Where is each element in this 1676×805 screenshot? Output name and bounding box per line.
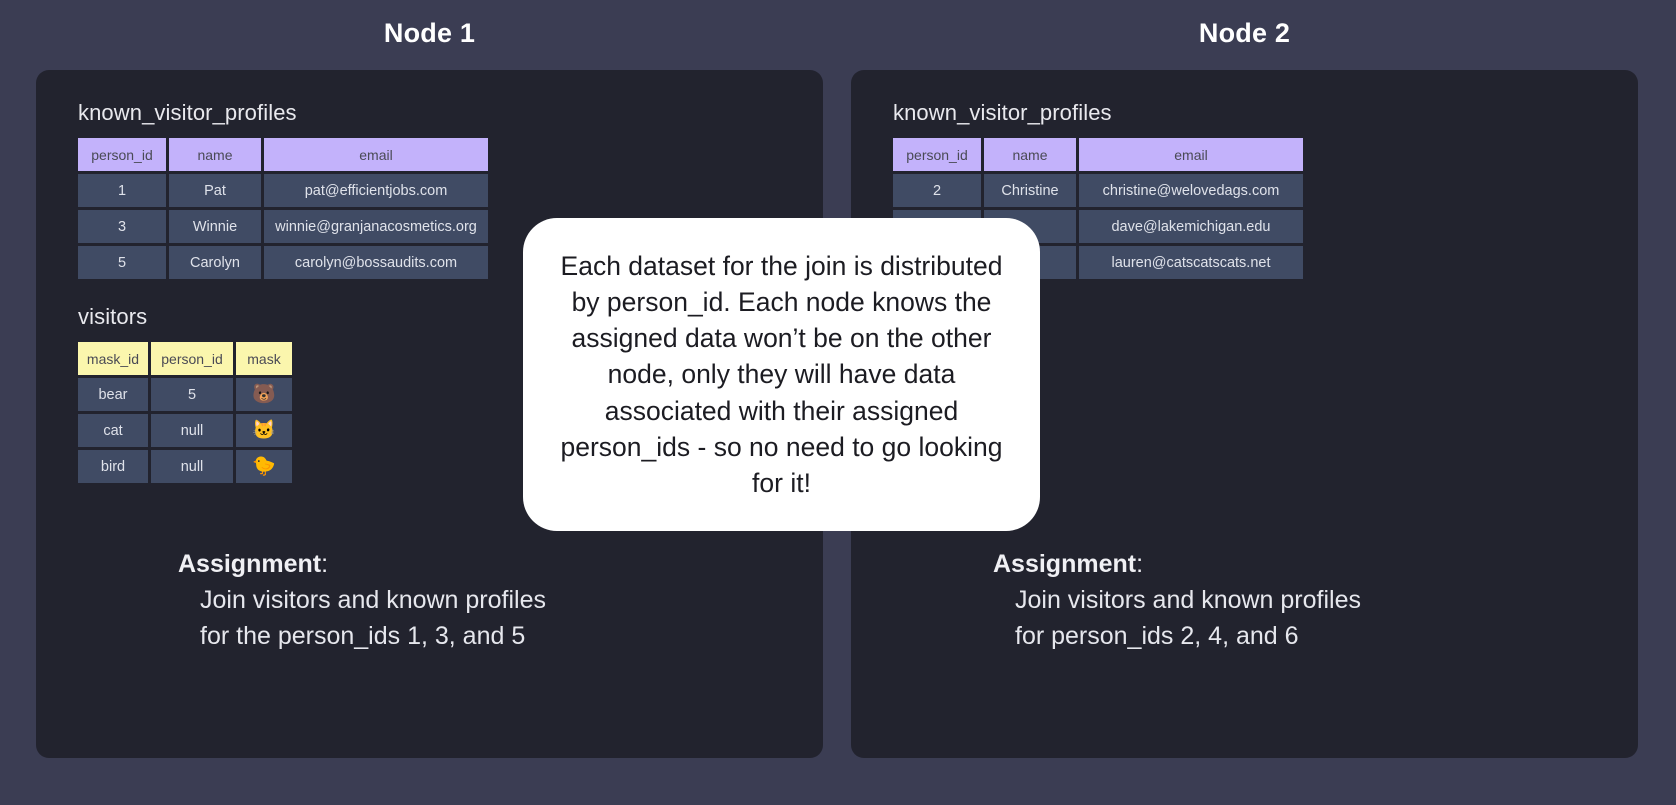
explanation-callout: Each dataset for the join is distributed… — [523, 218, 1040, 531]
table-row: 5 Carolyn carolyn@bossaudits.com — [78, 246, 488, 279]
cell-person-id: 3 — [78, 210, 166, 243]
assignment-line-1: Join visitors and known profiles — [993, 582, 1361, 618]
table-row: 3 Winnie winnie@granjanacosmetics.org — [78, 210, 488, 243]
column-header-email: email — [1079, 138, 1303, 171]
column-header-person-id: person_id — [151, 342, 233, 375]
node-1-profiles-table: person_id name email 1 Pat pat@efficient… — [75, 135, 491, 282]
cell-person-id: 1 — [78, 174, 166, 207]
node-2-title: Node 2 — [851, 18, 1638, 49]
node-2-profiles-table-title: known_visitor_profiles — [893, 100, 1618, 126]
table-row: cat null 🐱 — [78, 414, 292, 447]
assignment-label: Assignment — [178, 550, 321, 578]
node-1-profiles-table-title: known_visitor_profiles — [78, 100, 803, 126]
table-row: 1 Pat pat@efficientjobs.com — [78, 174, 488, 207]
assignment-heading: Assignment: — [178, 550, 546, 579]
table-header-row: person_id name email — [893, 138, 1303, 171]
cell-email: carolyn@bossaudits.com — [264, 246, 488, 279]
assignment-label: Assignment — [993, 550, 1136, 578]
assignment-line-2: for the person_ids 1, 3, and 5 — [178, 618, 546, 654]
cell-mask-id: bear — [78, 378, 148, 411]
column-header-mask-id: mask_id — [78, 342, 148, 375]
node-1-visitors-table: mask_id person_id mask bear 5 🐻 cat null — [75, 339, 295, 486]
column-header-mask: mask — [236, 342, 292, 375]
cell-email: lauren@catscatscats.net — [1079, 246, 1303, 279]
cell-email: pat@efficientjobs.com — [264, 174, 488, 207]
table-row: 2 Christine christine@welovedags.com — [893, 174, 1303, 207]
cell-name: Winnie — [169, 210, 261, 243]
assignment-colon: : — [321, 550, 328, 578]
node-titles-row: Node 1 Node 2 — [0, 18, 1676, 64]
cell-name: Carolyn — [169, 246, 261, 279]
node-1-title: Node 1 — [36, 18, 823, 49]
cat-icon: 🐱 — [236, 414, 292, 447]
bear-icon: 🐻 — [236, 378, 292, 411]
cell-email: dave@lakemichigan.edu — [1079, 210, 1303, 243]
column-header-name: name — [169, 138, 261, 171]
table-header-row: mask_id person_id mask — [78, 342, 292, 375]
cell-email: winnie@granjanacosmetics.org — [264, 210, 488, 243]
table-header-row: person_id name email — [78, 138, 488, 171]
column-header-person-id: person_id — [893, 138, 981, 171]
cell-mask-id: bird — [78, 450, 148, 483]
cell-person-id: 2 — [893, 174, 981, 207]
column-header-person-id: person_id — [78, 138, 166, 171]
table-row: bird null 🐤 — [78, 450, 292, 483]
cell-name: Pat — [169, 174, 261, 207]
assignment-line-1: Join visitors and known profiles — [178, 582, 546, 618]
assignment-colon: : — [1136, 550, 1143, 578]
cell-email: christine@welovedags.com — [1079, 174, 1303, 207]
column-header-email: email — [264, 138, 488, 171]
column-header-name: name — [984, 138, 1076, 171]
assignment-line-2: for person_ids 2, 4, and 6 — [993, 618, 1361, 654]
bird-icon: 🐤 — [236, 450, 292, 483]
node-1-assignment: Assignment: Join visitors and known prof… — [178, 550, 546, 655]
callout-text: Each dataset for the join is distributed… — [557, 248, 1006, 500]
cell-mask-id: cat — [78, 414, 148, 447]
table-row: bear 5 🐻 — [78, 378, 292, 411]
node-2-assignment: Assignment: Join visitors and known prof… — [993, 550, 1361, 655]
cell-person-id: 5 — [78, 246, 166, 279]
cell-person-id: null — [151, 450, 233, 483]
cell-person-id: 5 — [151, 378, 233, 411]
cell-person-id: null — [151, 414, 233, 447]
assignment-heading: Assignment: — [993, 550, 1361, 579]
cell-name: Christine — [984, 174, 1076, 207]
